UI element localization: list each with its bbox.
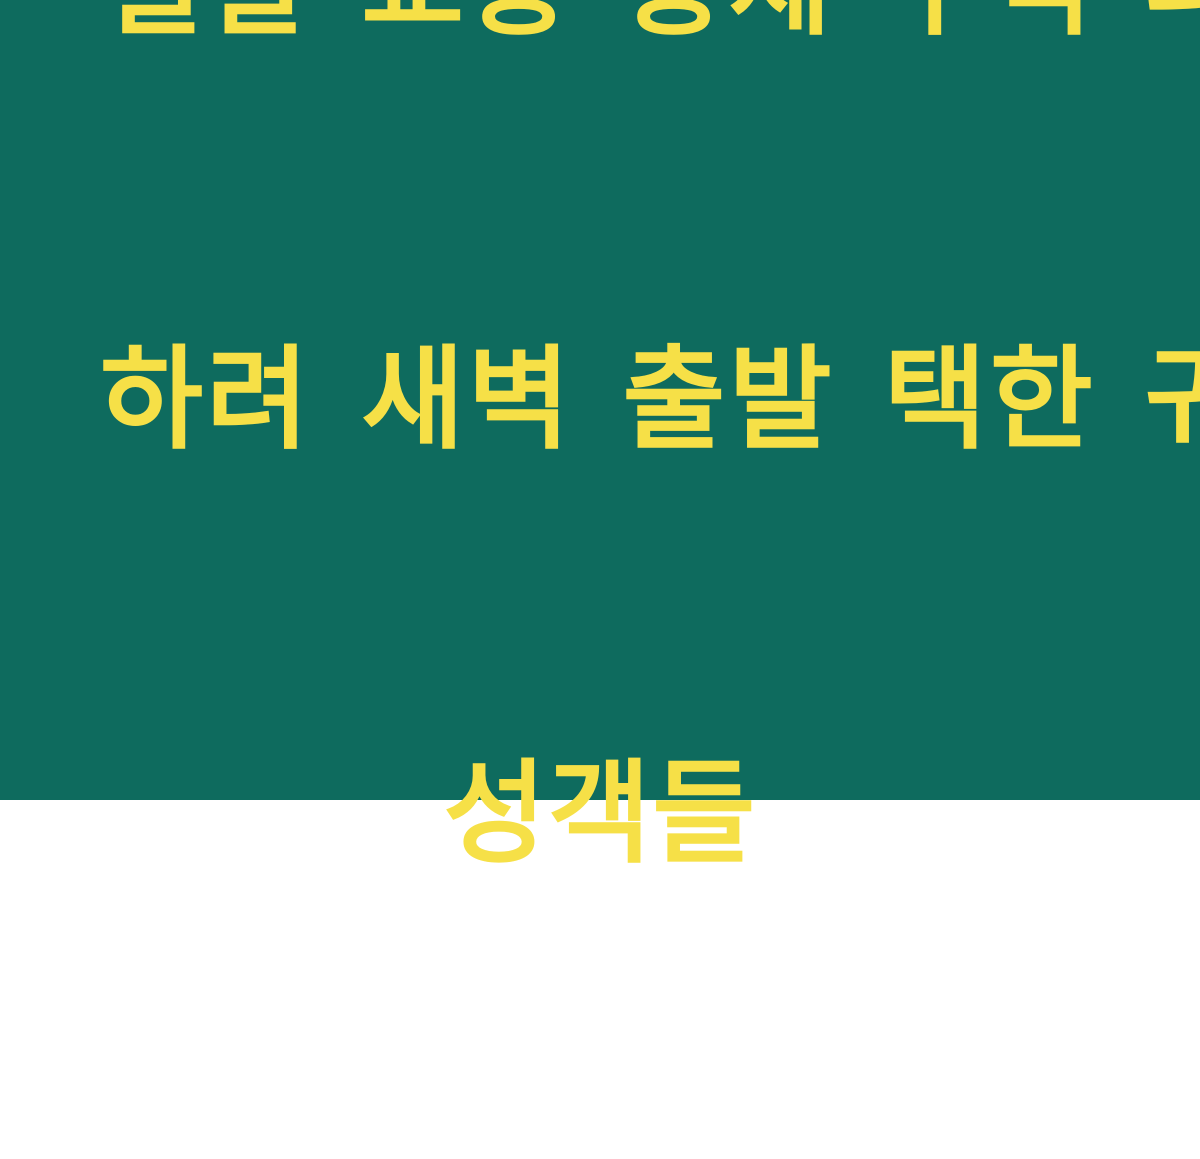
headline-line-1: 설날 교통 통제 구역 피: [100, 0, 1100, 55]
headline-card: 설날 교통 통제 구역 피 하려 새벽 출발 택한 귀 성객들: [0, 0, 1200, 800]
headline-text: 설날 교통 통제 구역 피 하려 새벽 출발 택한 귀 성객들: [100, 0, 1100, 1159]
headline-line-3: 성객들: [100, 745, 1100, 883]
headline-line-2: 하려 새벽 출발 택한 귀: [100, 331, 1100, 469]
